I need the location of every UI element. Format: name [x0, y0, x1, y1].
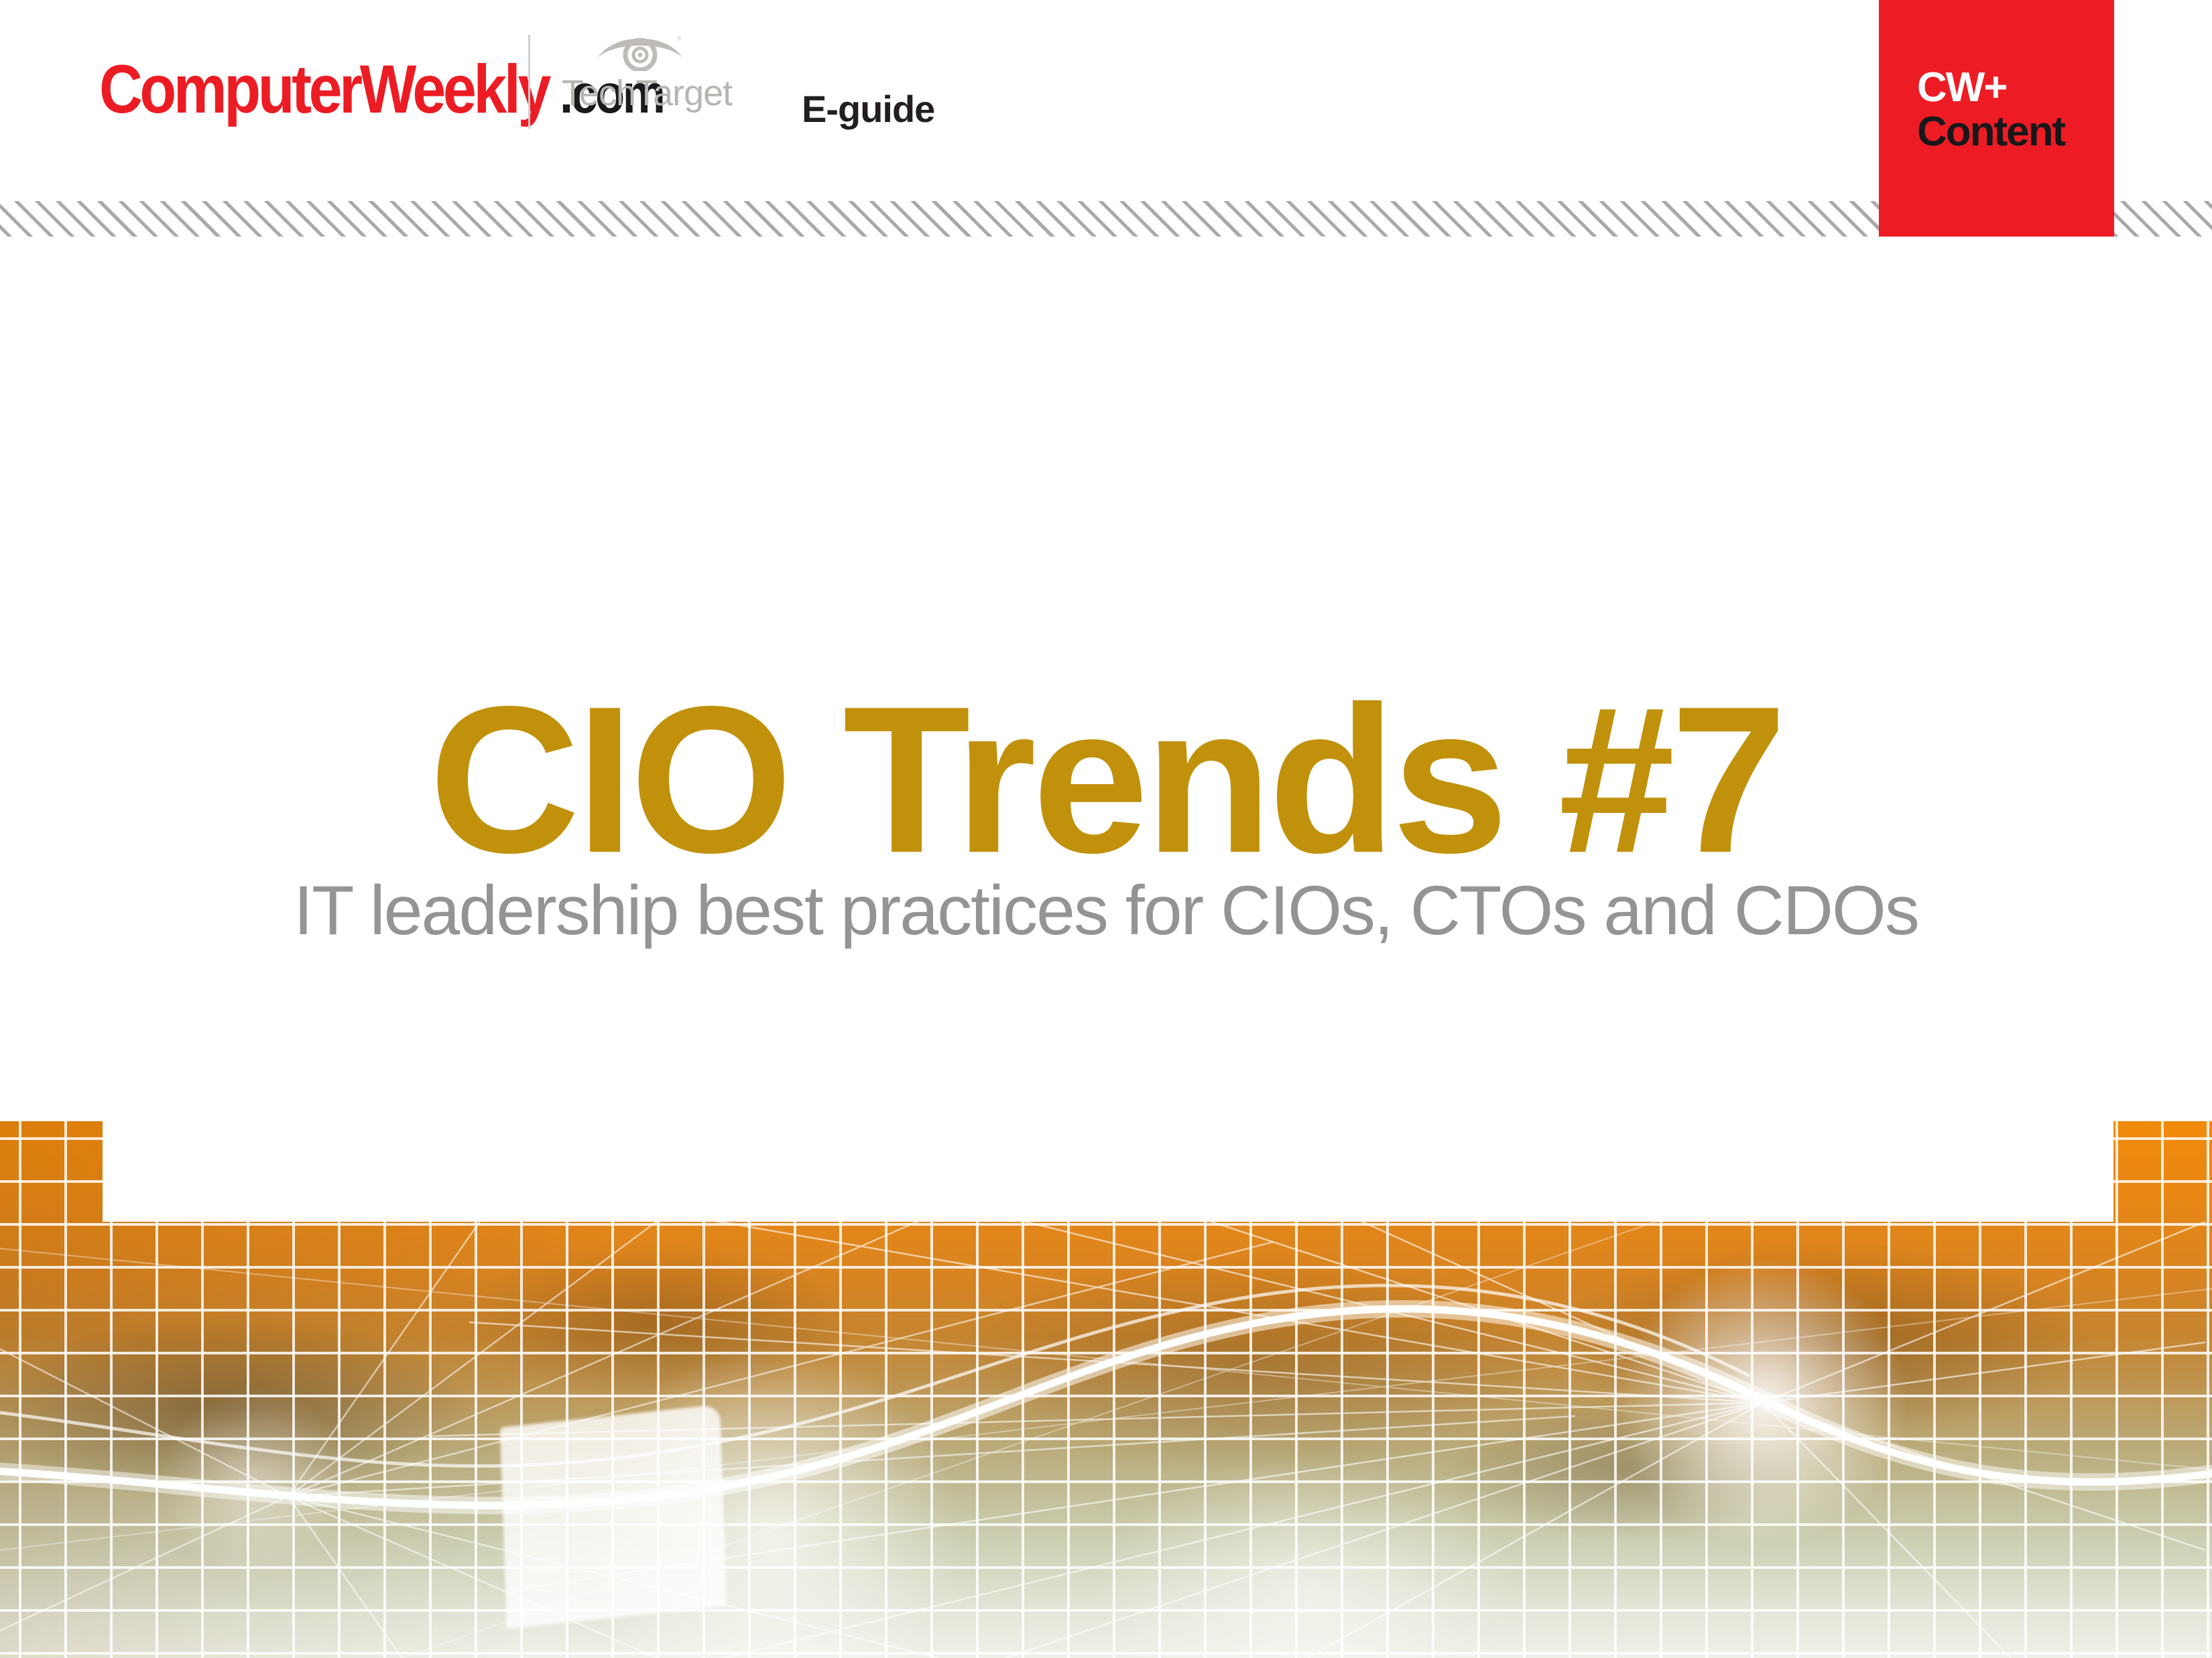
badge-line-two: Content — [1917, 111, 2065, 153]
computerweekly-logo[interactable]: ComputerWeekly.com — [99, 52, 528, 126]
artwork-top-glow — [0, 1222, 2212, 1658]
eye-target-icon: ® — [597, 28, 684, 71]
techtarget-logo[interactable]: ® TechTarget — [562, 28, 716, 129]
artwork-main-inner — [0, 1222, 2212, 1658]
artwork-main-band — [0, 1222, 2212, 1658]
svg-text:®: ® — [677, 35, 682, 42]
cover-artwork — [0, 1121, 2212, 1658]
logo-divider — [528, 35, 530, 129]
cw-plus-content-badge[interactable]: CW+ Content — [1879, 0, 2114, 235]
eguide-cover-page: ComputerWeekly.com ® TechTarget E-guide … — [0, 0, 2212, 1658]
badge-stripe-overlay — [1879, 201, 2114, 237]
techtarget-wordmark: TechTarget — [562, 72, 716, 114]
page-title: CIO Trends #7 — [0, 676, 2212, 885]
cover-title-block: CIO Trends #7 IT leadership best practic… — [0, 237, 2212, 1121]
document-type-label: E-guide — [802, 87, 934, 131]
computerweekly-wordmark: ComputerWeekly — [99, 52, 548, 126]
badge-line-one: CW+ — [1917, 67, 2007, 109]
page-header: ComputerWeekly.com ® TechTarget E-guide … — [0, 0, 2212, 201]
page-subtitle: IT leadership best practices for CIOs, C… — [0, 876, 2212, 946]
